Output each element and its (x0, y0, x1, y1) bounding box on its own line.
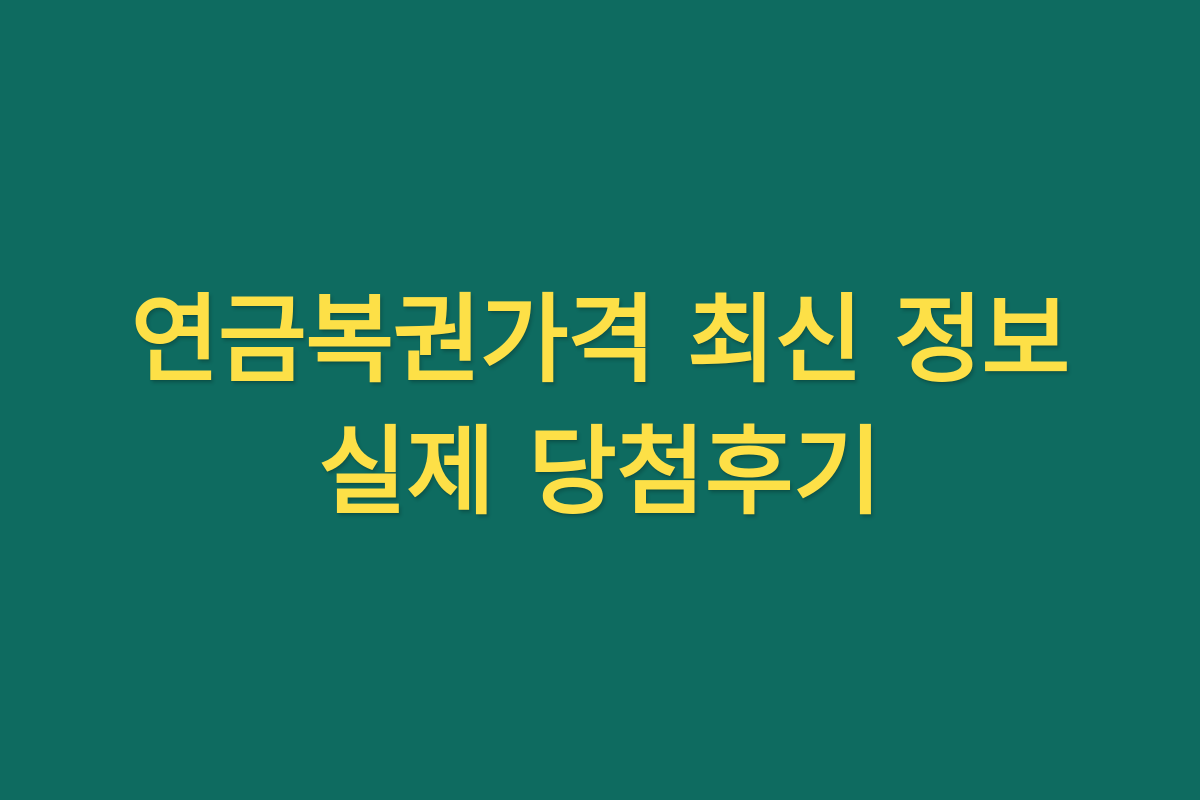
page-title-line-2: 실제 당첨후기 (0, 406, 1200, 538)
page-title-line-1: 연금복권가격 최신 정보 (0, 274, 1200, 406)
thumbnail-card: 연금복권가격 최신 정보 실제 당첨후기 (0, 0, 1200, 800)
page-title: 연금복권가격 최신 정보 실제 당첨후기 (0, 274, 1200, 539)
